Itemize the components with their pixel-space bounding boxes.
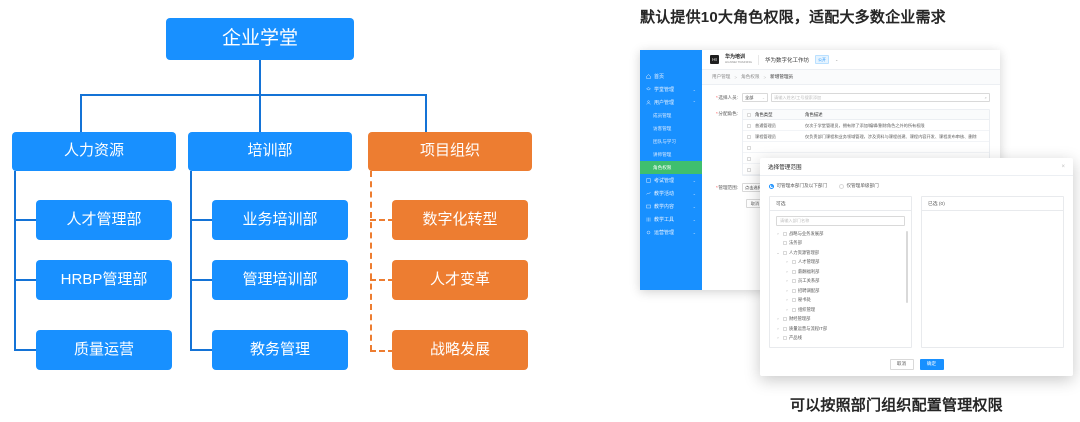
dept-tree: ›战略与业务发展部 ›法务部 ⌄人力资源管理部 ›人才管理部 ›薪酬福利部 ›员… xyxy=(776,229,905,343)
sidebar-label: 访客管理 xyxy=(653,126,671,132)
dept-search-placeholder: 请输入部门名称 xyxy=(780,218,809,224)
breadcrumb-item-2[interactable]: 角色权限 xyxy=(741,74,759,80)
ops-icon xyxy=(646,230,651,235)
tree-node[interactable]: ›产品线 xyxy=(776,334,905,344)
person-scope-value: 全部 xyxy=(745,95,753,101)
column-header-type: 角色类型 xyxy=(755,112,805,118)
chevron-right-icon[interactable]: › xyxy=(785,308,789,312)
sidebar-item-school[interactable]: 学堂管理 ⌄ xyxy=(640,83,702,96)
selected-panel-body xyxy=(922,211,1063,348)
tree-label: 产品线 xyxy=(789,335,802,341)
divider xyxy=(758,55,759,65)
org-node-hr-child-3[interactable]: 质量运营 xyxy=(36,330,172,370)
chevron-down-icon: ⌄ xyxy=(693,204,696,209)
connector-project-spine xyxy=(370,171,372,351)
caption-bottom: 可以按照部门组织配置管理权限 xyxy=(790,394,1003,415)
tree-label: 质量运营与流程IT部 xyxy=(789,326,827,332)
selected-panel-title: 已选 (0) xyxy=(922,197,1063,211)
breadcrumb-item-1[interactable]: 用户管理 xyxy=(712,74,730,80)
connector-level2-bus xyxy=(80,94,425,96)
sidebar-item-activity[interactable]: 教学活动 ⌄ xyxy=(640,187,702,200)
tree-node[interactable]: ›质量运营与流程IT部 xyxy=(776,324,905,334)
table-row[interactable] xyxy=(743,142,989,153)
scope-label: *管理范围: xyxy=(712,183,742,191)
connector-hr-child-3 xyxy=(14,349,38,351)
selected-panel: 已选 (0) xyxy=(921,196,1064,348)
tools-icon xyxy=(646,217,651,222)
screenshot-root: 企业学堂 人力资源 培训部 项目组织 人才管理部 HRBP管理部 质量运营 业务… xyxy=(0,0,1080,422)
tree-checkbox[interactable] xyxy=(783,232,787,236)
chevron-down-icon: ⌄ xyxy=(693,178,696,183)
radio-manage-single-dept[interactable]: 仅管理单级部门 xyxy=(839,183,879,189)
sidebar-item-operations[interactable]: 运营管理 ⌄ xyxy=(640,226,702,239)
exam-icon xyxy=(646,178,651,183)
user-icon xyxy=(646,100,651,105)
tree-label: 人才管理部 xyxy=(798,259,819,265)
role-table-header: 角色类型 角色描述 xyxy=(743,110,989,120)
tree-node[interactable]: ›战略与业务发展部 xyxy=(776,229,905,239)
tree-label: 人力资源管理部 xyxy=(789,250,819,256)
tree-checkbox[interactable] xyxy=(783,251,787,255)
org-node-project-child-1[interactable]: 数字化转型 xyxy=(392,200,528,240)
activity-icon xyxy=(646,191,651,196)
content-icon xyxy=(646,204,651,209)
role-desc: 仅负责部门课程和业务领域管理，涉及资料与课程创建、课程内容开发、课程发布审核、删… xyxy=(805,134,989,140)
connector-hr-child-2 xyxy=(14,279,38,281)
org-node-training-child-3[interactable]: 教务管理 xyxy=(212,330,348,370)
person-scope-select[interactable]: 全部 ⌄ xyxy=(742,93,768,102)
sidebar-item-user-mgmt[interactable]: 用户管理 ⌃ xyxy=(640,96,702,109)
tree-label: 法务部 xyxy=(789,240,802,246)
connector-project-child-3 xyxy=(370,350,394,352)
workspace-name: 华为数字化工作坊 xyxy=(765,56,809,64)
org-node-hr-child-1[interactable]: 人才管理部 xyxy=(36,200,172,240)
role-type: 普通管理员 xyxy=(755,123,805,129)
chevron-right-icon[interactable]: › xyxy=(785,279,789,283)
home-icon xyxy=(646,74,651,79)
connector-hr-child-1 xyxy=(14,219,38,221)
org-node-root[interactable]: 企业学堂 xyxy=(166,18,354,60)
breadcrumb-separator: > xyxy=(763,75,766,80)
transfer-panels: 可选 请输入部门名称 ›战略与业务发展部 ›法务部 ⌄人力资源管理部 ›人才管理… xyxy=(769,196,1064,348)
dialog-title: 选择管理范围 xyxy=(768,163,802,171)
tree-label: 组织管理 xyxy=(798,307,815,313)
cancel-button[interactable]: 取消 xyxy=(890,359,914,370)
app-topbar: HI 华为培训 HUAWEI TRAINING 华为数字化工作坊 公开 ⌄ xyxy=(702,50,1000,70)
connector-project-child-1 xyxy=(370,219,394,221)
tree-scrollbar[interactable] xyxy=(906,231,908,303)
tree-node[interactable]: ›法务部 xyxy=(776,239,905,249)
chevron-down-icon: ⌄ xyxy=(762,96,765,100)
scope-dialog: 选择管理范围 × 可管理本部门及以下部门 仅管理单级部门 可选 xyxy=(760,158,1073,376)
role-type: 课程管理员 xyxy=(755,134,805,140)
org-node-project[interactable]: 项目组织 xyxy=(368,132,532,171)
radio-dot-icon xyxy=(839,184,844,189)
select-all-checkbox[interactable] xyxy=(743,112,755,117)
connector-training-child-3 xyxy=(190,349,214,351)
chevron-right-icon[interactable]: › xyxy=(785,298,789,302)
sidebar-item-role-permission[interactable]: 角色权限 xyxy=(640,161,702,174)
sidebar-label: 讲师管理 xyxy=(653,152,671,158)
chevron-right-icon[interactable]: › xyxy=(776,232,780,236)
connector-to-hr xyxy=(80,94,82,132)
sidebar-item-teachers[interactable]: 讲师管理 xyxy=(640,148,702,161)
caption-top: 默认提供10大角色权限，适配大多数企业需求 xyxy=(640,6,946,27)
chevron-right-icon[interactable]: › xyxy=(785,289,789,293)
column-header-desc: 角色描述 xyxy=(805,112,989,118)
sidebar-label: 用户管理 xyxy=(654,99,674,106)
tree-checkbox[interactable] xyxy=(783,336,787,340)
available-panel-title: 可选 xyxy=(770,197,911,211)
chevron-down-icon[interactable]: ⌄ xyxy=(776,251,780,255)
tree-label: 招聘调配部 xyxy=(798,288,819,294)
sidebar-item-tools[interactable]: 教学工具 ⌄ xyxy=(640,213,702,226)
brand-logo-icon: HI xyxy=(710,55,719,64)
breadcrumb-item-current: 新增管理员 xyxy=(770,74,793,80)
workspace-visibility-badge: 公开 xyxy=(815,55,829,64)
tree-label: 秘书处 xyxy=(798,297,811,303)
tree-node[interactable]: ›秘书处 xyxy=(776,296,905,306)
search-icon: ⌕ xyxy=(985,95,987,100)
breadcrumb-separator: > xyxy=(734,75,737,80)
app-sidebar: 首页 学堂管理 ⌄ 用户管理 ⌃ 成员管理 访客管理 xyxy=(640,50,702,290)
org-node-project-child-3[interactable]: 战略发展 xyxy=(392,330,528,370)
table-row[interactable]: 课程管理员 仅负责部门课程和业务领域管理，涉及资料与课程创建、课程内容开发、课程… xyxy=(743,131,989,142)
row-checkbox[interactable] xyxy=(743,156,755,161)
sidebar-item-exam[interactable]: 考试管理 ⌄ xyxy=(640,174,702,187)
radio-dot-icon xyxy=(769,184,774,189)
org-node-training[interactable]: 培训部 xyxy=(188,132,352,171)
role-desc: 仅次于学堂管理员，拥有除了添加/编辑/删除角色之外的所有权限 xyxy=(805,123,989,129)
chevron-down-icon[interactable]: ⌄ xyxy=(835,57,838,62)
sidebar-label: 角色权限 xyxy=(653,165,671,171)
chevron-right-icon[interactable]: › xyxy=(776,317,780,321)
tree-label: 战略与业务发展部 xyxy=(789,231,823,237)
sidebar-item-teams[interactable]: 团队与学习 xyxy=(640,135,702,148)
row-checkbox[interactable] xyxy=(743,167,755,172)
chevron-down-icon: ⌄ xyxy=(693,191,696,196)
close-icon[interactable]: × xyxy=(1061,164,1065,170)
row-checkbox[interactable] xyxy=(743,134,755,139)
sidebar-label: 教学内容 xyxy=(654,203,674,210)
tree-node[interactable]: ⌄人力资源管理部 xyxy=(776,248,905,258)
connector-root-down xyxy=(259,60,261,94)
available-panel: 可选 请输入部门名称 ›战略与业务发展部 ›法务部 ⌄人力资源管理部 ›人才管理… xyxy=(769,196,912,348)
tree-checkbox[interactable] xyxy=(783,241,787,245)
chevron-right-icon[interactable]: › xyxy=(776,336,780,340)
school-icon xyxy=(646,87,651,92)
sidebar-label: 教学活动 xyxy=(654,190,674,197)
sidebar-label: 首页 xyxy=(654,73,664,80)
org-node-training-child-1[interactable]: 业务培训部 xyxy=(212,200,348,240)
sidebar-label: 成员管理 xyxy=(653,113,671,119)
sidebar-label: 运营管理 xyxy=(654,229,674,236)
scope-radio-group: 可管理本部门及以下部门 仅管理单级部门 xyxy=(769,183,1064,189)
tree-label: 薪酬福利部 xyxy=(798,269,819,275)
row-checkbox[interactable] xyxy=(743,123,755,128)
org-node-project-child-2[interactable]: 人才变革 xyxy=(392,260,528,300)
sidebar-item-members[interactable]: 成员管理 xyxy=(640,109,702,122)
org-node-hr-child-2[interactable]: HRBP管理部 xyxy=(36,260,172,300)
connector-project-child-2 xyxy=(370,279,394,281)
org-chart: 企业学堂 人力资源 培训部 项目组织 人才管理部 HRBP管理部 质量运营 业务… xyxy=(0,0,600,422)
tree-checkbox[interactable] xyxy=(783,327,787,331)
tree-node[interactable]: ›薪酬福利部 xyxy=(776,267,905,277)
person-label: *选择人员: xyxy=(712,93,742,101)
connector-to-project xyxy=(425,94,427,132)
tree-label: 财经管理部 xyxy=(789,316,810,322)
connector-training-spine xyxy=(190,171,192,350)
chevron-right-icon[interactable]: › xyxy=(776,327,780,331)
sidebar-label: 团队与学习 xyxy=(653,139,676,145)
org-node-training-child-2[interactable]: 管理培训部 xyxy=(212,260,348,300)
chevron-right-icon[interactable]: › xyxy=(785,260,789,264)
role-label: *分配角色: xyxy=(712,109,742,117)
tree-node[interactable]: ›人才管理部 xyxy=(776,258,905,268)
dialog-footer: 取消 确定 xyxy=(760,352,1073,376)
sidebar-item-home[interactable]: 首页 xyxy=(640,70,702,83)
tree-node[interactable]: ›招聘调配部 xyxy=(776,286,905,296)
tree-checkbox[interactable] xyxy=(783,317,787,321)
dept-search-input[interactable]: 请输入部门名称 xyxy=(776,216,905,226)
tree-checkbox[interactable] xyxy=(792,260,796,264)
sidebar-item-visitors[interactable]: 访客管理 xyxy=(640,122,702,135)
person-search-placeholder: 请输入姓名/工号搜索添加 xyxy=(774,95,821,101)
radio-label: 仅管理单级部门 xyxy=(847,183,879,189)
tree-node[interactable]: ›财经管理部 xyxy=(776,315,905,325)
form-row-person: *选择人员: 全部 ⌄ 请输入姓名/工号搜索添加 ⌕ xyxy=(712,93,990,102)
tree-node[interactable]: ›员工关系部 xyxy=(776,277,905,287)
connector-hr-spine xyxy=(14,171,16,350)
sidebar-label: 教学工具 xyxy=(654,216,674,223)
chevron-down-icon: ⌄ xyxy=(693,230,696,235)
brand-block: 华为培训 HUAWEI TRAINING xyxy=(725,55,752,64)
connector-to-training xyxy=(259,94,261,132)
available-panel-body: 请输入部门名称 ›战略与业务发展部 ›法务部 ⌄人力资源管理部 ›人才管理部 ›… xyxy=(770,211,911,348)
chevron-down-icon: ⌄ xyxy=(693,87,696,92)
chevron-down-icon: ⌄ xyxy=(693,217,696,222)
screenshot-composite: 默认提供10大角色权限，适配大多数企业需求 可以按照部门组织配置管理权限 首页 … xyxy=(600,0,1080,422)
radio-manage-sub-depts[interactable]: 可管理本部门及以下部门 xyxy=(769,183,827,189)
tree-node[interactable]: ›组织管理 xyxy=(776,305,905,315)
connector-training-child-2 xyxy=(190,279,214,281)
confirm-button[interactable]: 确定 xyxy=(920,359,944,370)
tree-label: 员工关系部 xyxy=(798,278,819,284)
sidebar-label: 学堂管理 xyxy=(654,86,674,93)
table-row[interactable]: 普通管理员 仅次于学堂管理员，拥有除了添加/编辑/删除角色之外的所有权限 xyxy=(743,120,989,131)
person-search-input[interactable]: 请输入姓名/工号搜索添加 ⌕ xyxy=(771,93,990,102)
tree-checkbox[interactable] xyxy=(792,279,796,283)
chevron-right-icon[interactable]: › xyxy=(785,270,789,274)
sidebar-item-content[interactable]: 教学内容 ⌄ xyxy=(640,200,702,213)
breadcrumb: 用户管理 > 角色权限 > 新增管理员 xyxy=(702,70,1000,85)
brand-subtitle: HUAWEI TRAINING xyxy=(725,60,752,64)
connector-training-child-1 xyxy=(190,219,214,221)
dialog-header: 选择管理范围 × xyxy=(760,158,1073,176)
sidebar-label: 考试管理 xyxy=(654,177,674,184)
radio-label: 可管理本部门及以下部门 xyxy=(777,183,828,189)
tree-checkbox[interactable] xyxy=(792,298,796,302)
tree-checkbox[interactable] xyxy=(792,308,796,312)
dialog-body: 可管理本部门及以下部门 仅管理单级部门 可选 请输入部门名称 xyxy=(760,176,1073,348)
org-node-hr[interactable]: 人力资源 xyxy=(12,132,176,171)
chevron-up-icon: ⌃ xyxy=(693,100,696,105)
row-checkbox[interactable] xyxy=(743,145,755,150)
tree-checkbox[interactable] xyxy=(792,270,796,274)
tree-checkbox[interactable] xyxy=(792,289,796,293)
